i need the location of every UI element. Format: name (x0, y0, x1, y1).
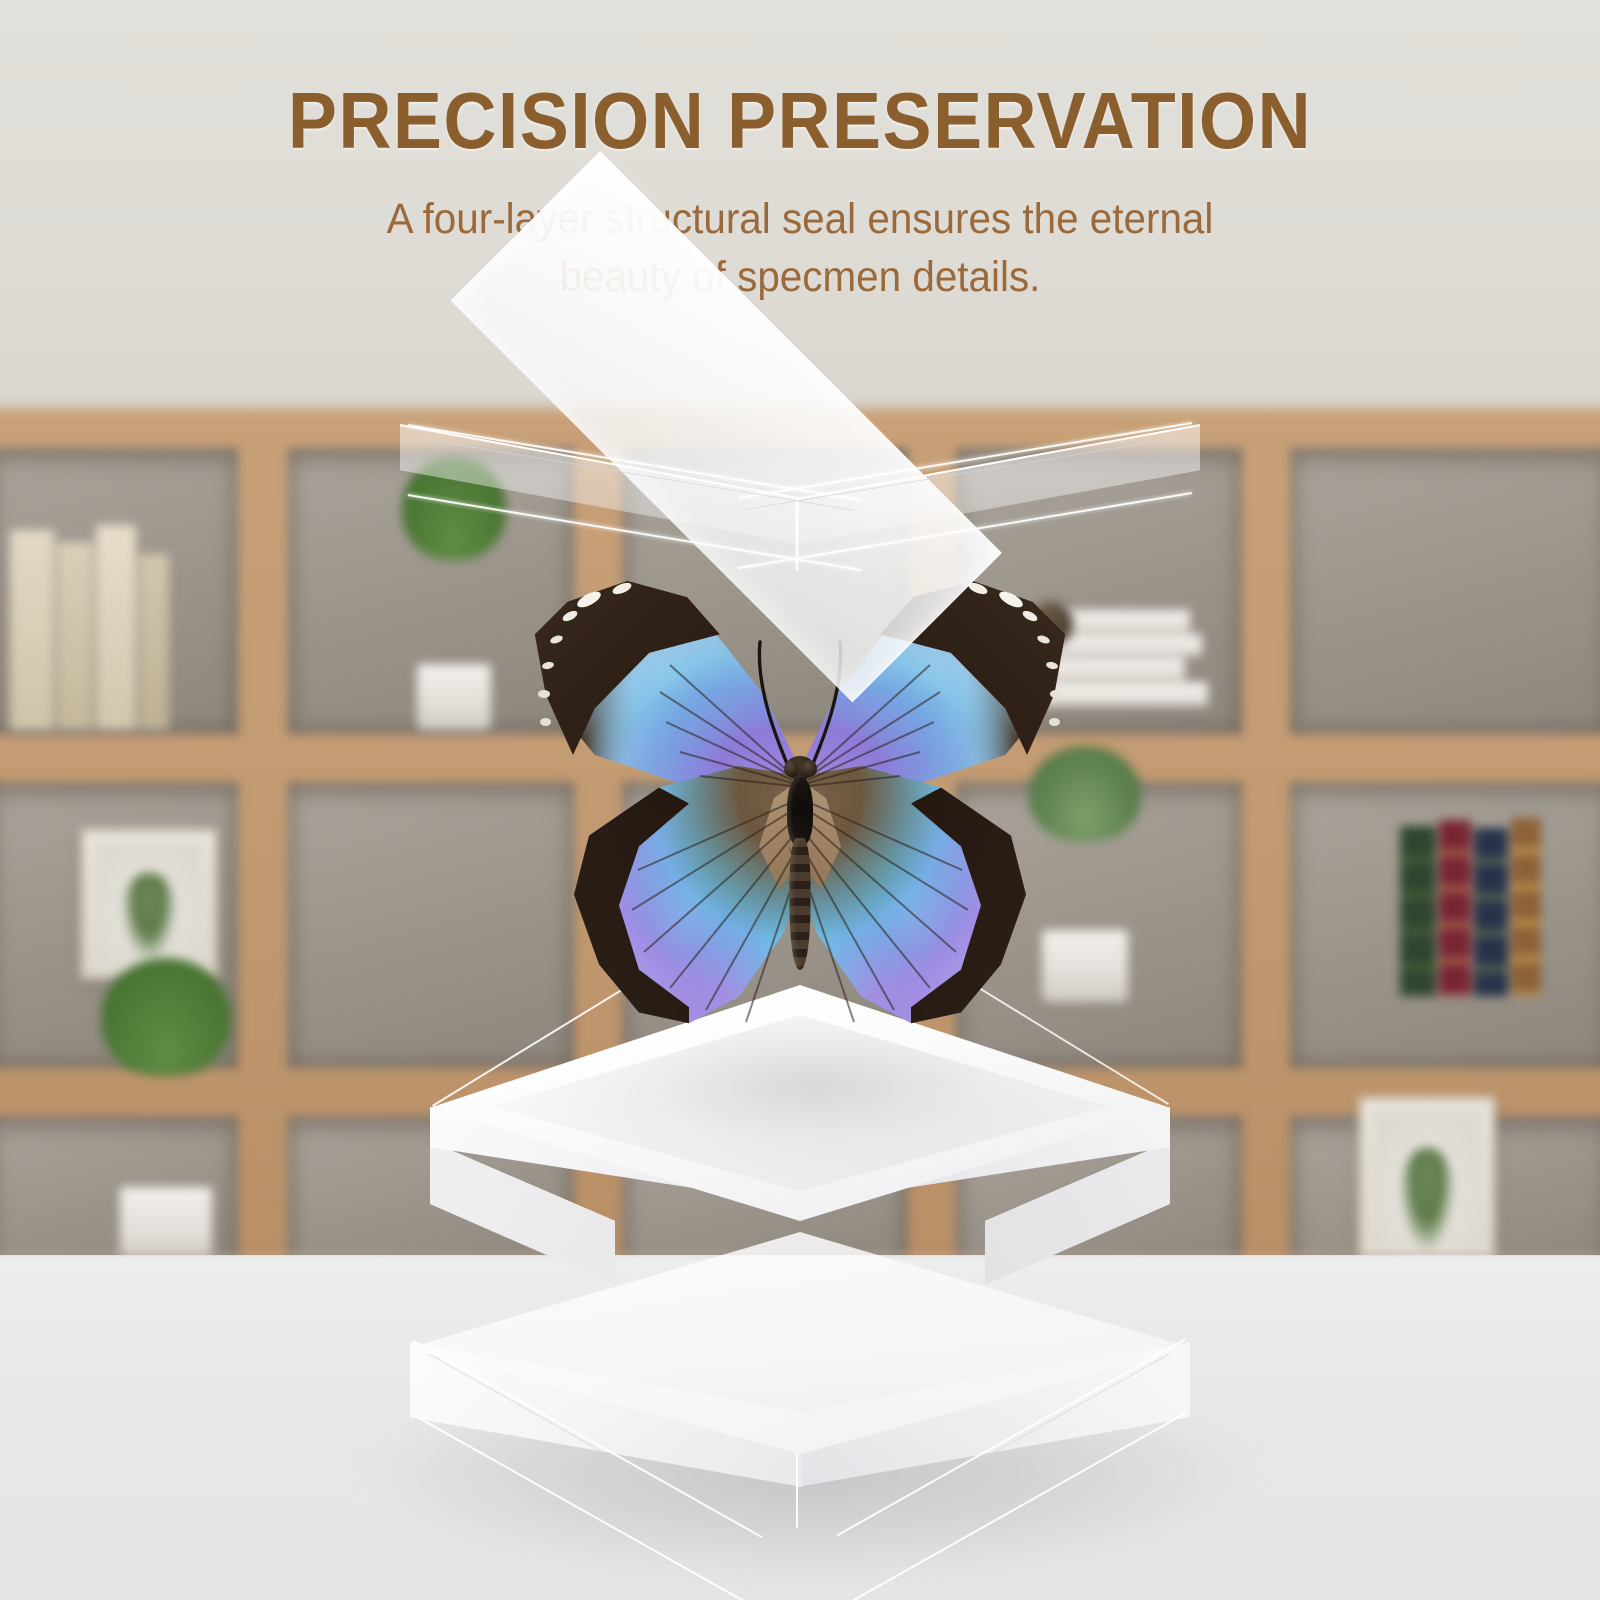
book-spine-navy (1474, 828, 1508, 996)
butterfly-eye (784, 760, 799, 777)
butterfly-thorax (787, 776, 813, 846)
plant-lower-left (96, 1076, 236, 1261)
wing-spot (540, 718, 551, 726)
botanical-sprig (122, 873, 176, 961)
base-front-corner-edge (796, 1454, 798, 1528)
books-right (1400, 812, 1541, 996)
picture-frame-right (1358, 1096, 1496, 1274)
butterfly-eye (802, 760, 817, 777)
wing-spot (1050, 690, 1062, 698)
product-image-canvas: PRECISION PRESERVATION A four-layer stru… (0, 0, 1600, 1600)
picture-frame-left (80, 828, 218, 980)
product-layer-clear-lid (400, 352, 1200, 582)
subtitle-line-1: A four-layer structural seal ensures the… (330, 190, 1270, 248)
book-spine-green (1400, 826, 1436, 996)
lid-front-corner-edge (796, 498, 798, 570)
botanical-sprig (1400, 1148, 1454, 1252)
page-title: PRECISION PRESERVATION (64, 78, 1536, 164)
wing-spot (538, 690, 550, 698)
butterfly-abdomen (790, 838, 811, 970)
wing-spot (1049, 718, 1060, 726)
books-left (10, 520, 169, 730)
plant-upper-left (398, 560, 510, 730)
shelf-cube (1290, 448, 1600, 734)
book-spine-tan (1511, 818, 1541, 996)
book-spine-maroon (1439, 820, 1471, 996)
